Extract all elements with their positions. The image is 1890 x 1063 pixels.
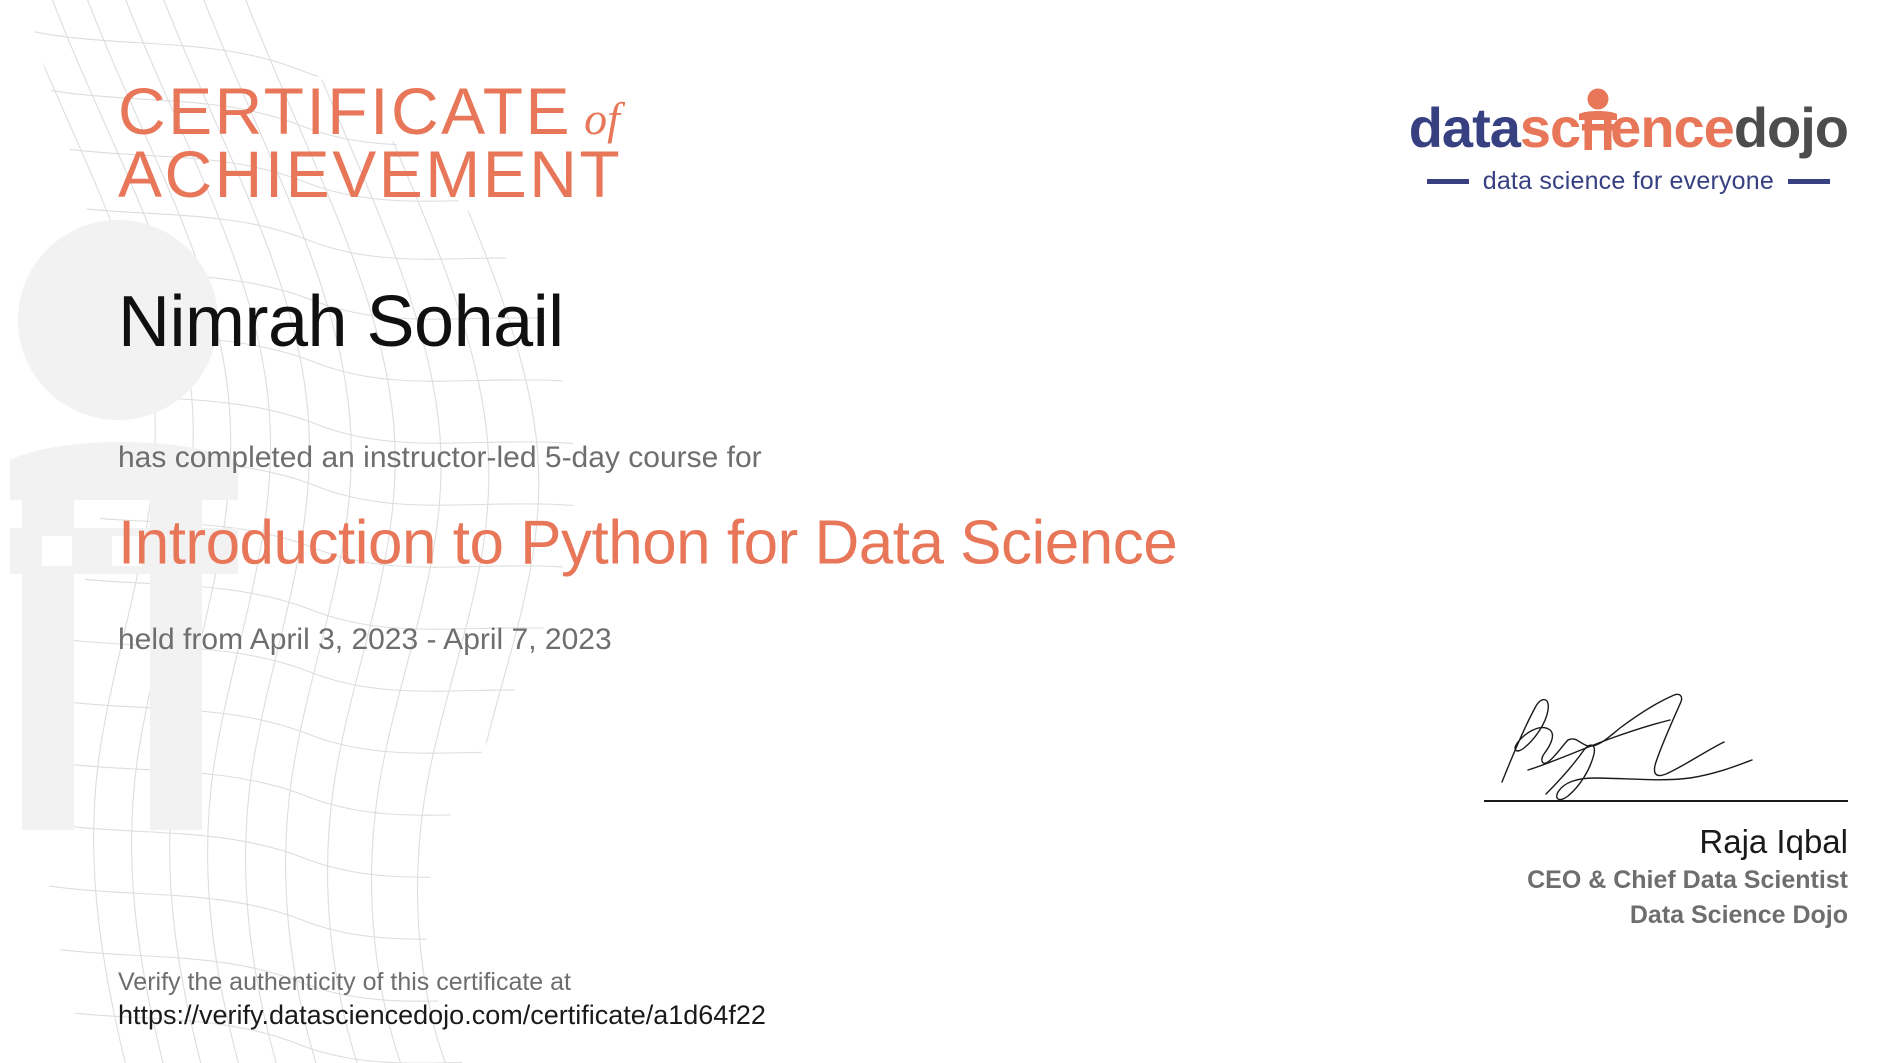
signer-organization: Data Science Dojo: [1484, 900, 1848, 931]
signature-block: Raja Iqbal CEO & Chief Data Scientist Da…: [1484, 690, 1848, 931]
signature-rule: [1484, 800, 1848, 802]
logo-science-prefix-text: sc: [1520, 96, 1580, 159]
heading-achievement-text: ACHIEVEMENT: [118, 143, 622, 206]
course-dates: held from April 3, 2023 - April 7, 2023: [118, 623, 612, 657]
logo-tagline: data science for everyone: [1409, 167, 1848, 196]
certificate-heading: CERTIFICATEof ACHIEVEMENT: [118, 80, 622, 207]
verification-url[interactable]: https://verify.datasciencedojo.com/certi…: [118, 998, 766, 1033]
logo-dojo-text: dojo: [1734, 96, 1848, 159]
torii-gate-icon: [1578, 88, 1618, 150]
heading-line-1-row: CERTIFICATEof: [118, 80, 622, 143]
logo-data-text: data: [1409, 96, 1520, 159]
course-title: Introduction to Python for Data Science: [118, 508, 1177, 579]
recipient-name: Nimrah Sohail: [118, 281, 564, 363]
completion-statement: has completed an instructor-led 5-day co…: [118, 441, 762, 475]
handwritten-signature-icon: [1484, 690, 1848, 802]
signer-title: CEO & Chief Data Scientist: [1484, 865, 1848, 896]
signer-name: Raja Iqbal: [1484, 823, 1848, 861]
tagline-dash-left-icon: [1427, 179, 1469, 184]
certificate-page: CERTIFICATEof ACHIEVEMENT datasc encedoj…: [0, 0, 1890, 1063]
heading-of-text: of: [572, 93, 620, 144]
logo-tagline-text: data science for everyone: [1483, 167, 1774, 196]
verification-label: Verify the authenticity of this certific…: [118, 966, 766, 998]
datasciencedojo-logo: datasc encedojo data science for everyon…: [1409, 100, 1848, 196]
logo-science-suffix-text: ence: [1610, 96, 1734, 159]
tagline-dash-right-icon: [1788, 179, 1830, 184]
logo-wordmark: datasc encedojo: [1409, 100, 1848, 156]
verification-block: Verify the authenticity of this certific…: [118, 966, 766, 1033]
